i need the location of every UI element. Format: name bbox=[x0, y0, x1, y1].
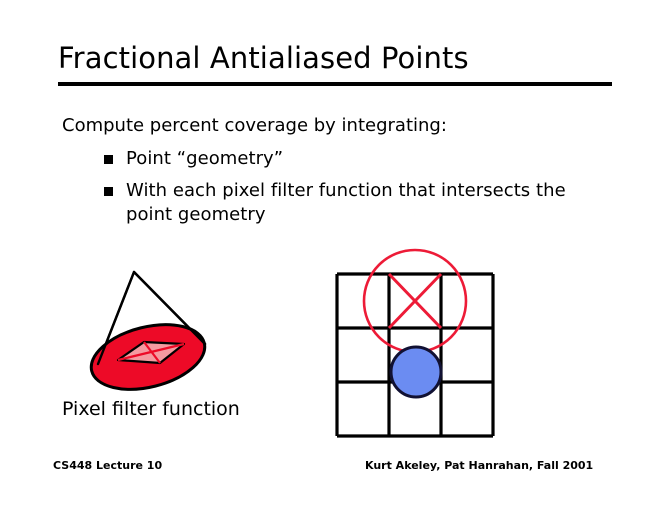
bullet-label: Point “geometry” bbox=[126, 147, 604, 171]
pixel-grid-figure bbox=[330, 240, 510, 445]
footer-course-label: CS448 Lecture 10 bbox=[53, 458, 162, 473]
point-geometry-dot bbox=[391, 347, 441, 397]
footer-authors-label: Kurt Akeley, Pat Hanrahan, Fall 2001 bbox=[365, 458, 593, 473]
sample-cross-icon bbox=[389, 274, 441, 328]
bullet-item-point-geometry: Point “geometry” bbox=[104, 147, 604, 171]
bullet-label: With each pixel filter function that int… bbox=[126, 179, 614, 227]
square-bullet-icon bbox=[104, 187, 113, 196]
pixel-filter-cone-figure bbox=[62, 252, 272, 392]
cone-diagram-svg bbox=[62, 252, 272, 392]
title-divider bbox=[58, 82, 612, 86]
cone-figure-caption: Pixel filter function bbox=[62, 396, 292, 422]
lead-statement: Compute percent coverage by integrating: bbox=[62, 114, 622, 138]
bullet-item-pixel-filter: With each pixel filter function that int… bbox=[104, 179, 614, 227]
page-title: Fractional Antialiased Points bbox=[58, 40, 618, 76]
square-bullet-icon bbox=[104, 155, 113, 164]
pixel-grid-svg bbox=[330, 240, 510, 445]
slide-canvas: Fractional Antialiased Points Compute pe… bbox=[0, 0, 660, 510]
